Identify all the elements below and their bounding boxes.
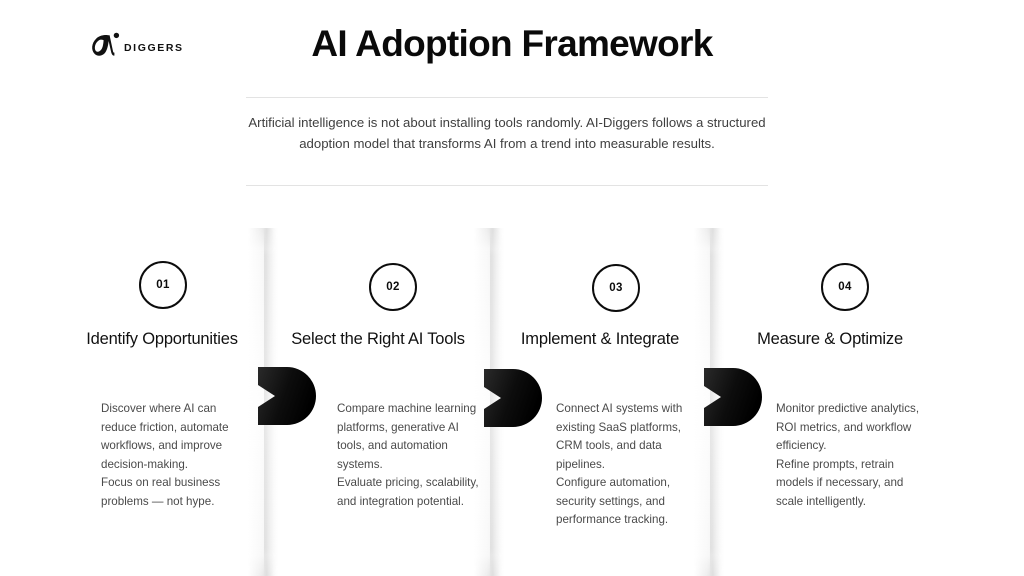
step-number-badge: 01 bbox=[139, 261, 187, 309]
step-card-01[interactable]: 01 Identify Opportunities Discover where… bbox=[60, 228, 264, 576]
step-number-badge: 04 bbox=[821, 263, 869, 311]
step-heading: Identify Opportunities bbox=[72, 328, 252, 351]
step-number-badge: 03 bbox=[592, 264, 640, 312]
page-subtitle: Artificial intelligence is not about ins… bbox=[246, 112, 768, 155]
step-number-badge: 02 bbox=[369, 263, 417, 311]
page-title: AI Adoption Framework bbox=[0, 23, 1024, 66]
divider-top bbox=[246, 97, 768, 98]
divider-bottom bbox=[246, 185, 768, 186]
chevron-right-disc-icon bbox=[258, 367, 316, 425]
step-connector-3 bbox=[704, 368, 762, 426]
chevron-right-disc-icon bbox=[704, 368, 762, 426]
step-heading: Select the Right AI Tools bbox=[278, 328, 478, 351]
step-heading: Implement & Integrate bbox=[500, 328, 700, 351]
step-description: Monitor predictive analytics, ROI metric… bbox=[776, 400, 926, 511]
step-description: Compare machine learning platforms, gene… bbox=[337, 400, 482, 511]
step-description: Discover where AI can reduce friction, a… bbox=[101, 400, 241, 511]
step-description: Connect AI systems with existing SaaS pl… bbox=[556, 400, 698, 530]
step-connector-2 bbox=[484, 369, 542, 427]
step-connector-1 bbox=[258, 367, 316, 425]
slide-canvas: DIGGERS AI Adoption Framework Artificial… bbox=[0, 0, 1024, 576]
step-heading: Measure & Optimize bbox=[730, 328, 930, 351]
chevron-right-disc-icon bbox=[484, 369, 542, 427]
